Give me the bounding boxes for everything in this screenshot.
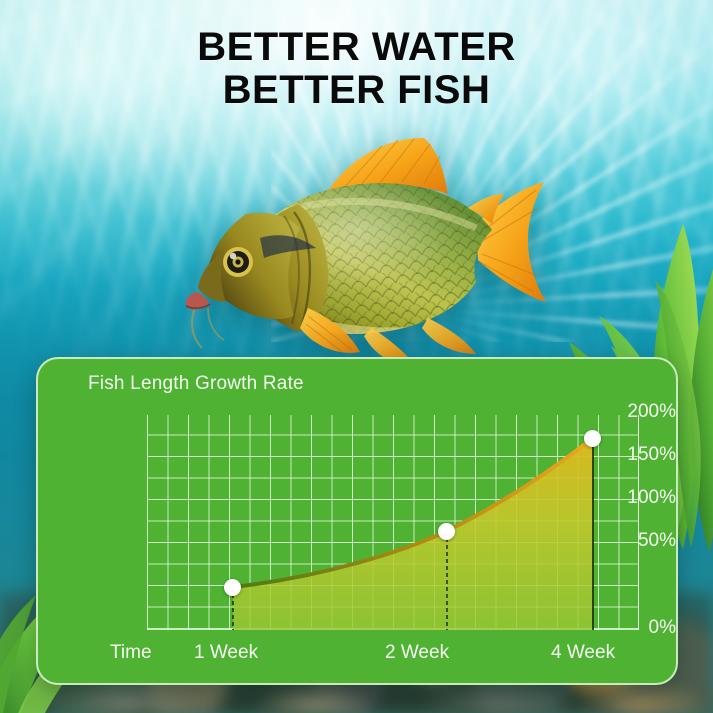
x-tick-4week: 4 Week xyxy=(551,642,615,664)
x-tick-1week: 1 Week xyxy=(194,642,258,664)
y-tick-150: 150% xyxy=(576,444,676,466)
poster-root: BETTER WATER BETTER FISH Fish Length Gro… xyxy=(0,0,713,713)
y-tick-200: 200% xyxy=(576,401,676,423)
chart-point-2week[interactable] xyxy=(438,523,455,540)
chart-plot-area xyxy=(147,415,639,630)
growth-chart-panel: Fish Length Growth Rate xyxy=(36,357,678,685)
y-tick-50: 50% xyxy=(576,530,676,552)
y-tick-100: 100% xyxy=(576,487,676,509)
headline-line-1: BETTER WATER xyxy=(197,25,516,69)
carp-fish-illustration xyxy=(176,120,548,370)
chart-series-svg xyxy=(147,415,639,630)
x-tick-2week: 2 Week xyxy=(385,642,449,664)
headline-line-2: BETTER FISH xyxy=(0,69,713,112)
chart-area-fill xyxy=(233,438,593,630)
y-tick-0: 0% xyxy=(576,617,676,639)
chart-title: Fish Length Growth Rate xyxy=(88,373,304,395)
chart-point-1week[interactable] xyxy=(224,579,241,596)
headline: BETTER WATER BETTER FISH xyxy=(0,26,713,112)
x-axis-caption: Time xyxy=(110,642,152,664)
